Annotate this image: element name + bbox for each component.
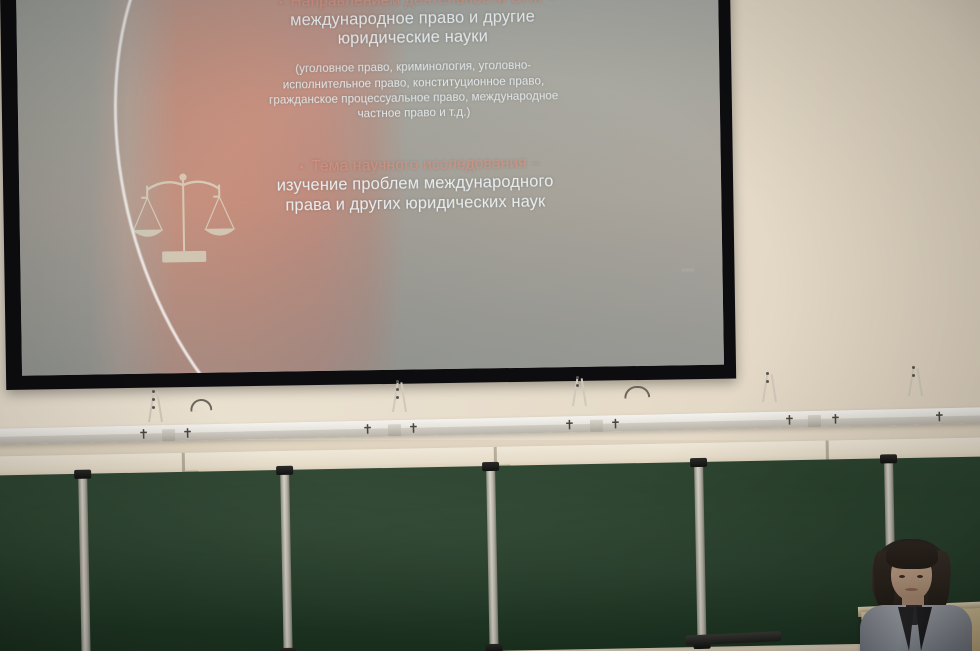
lecture-hall-photo: Направлением деятельности СНК – междунар…	[0, 0, 980, 651]
presenter	[846, 537, 980, 651]
slide-text-column: Направлением деятельности СНК – междунар…	[202, 0, 625, 216]
projector-screen-frame: Направлением деятельности СНК – междунар…	[0, 0, 736, 390]
projector-screen-surface: Направлением деятельности СНК – междунар…	[16, 0, 724, 376]
slide-watermark: •••	[682, 265, 695, 275]
chalkboard-assembly	[0, 456, 980, 651]
